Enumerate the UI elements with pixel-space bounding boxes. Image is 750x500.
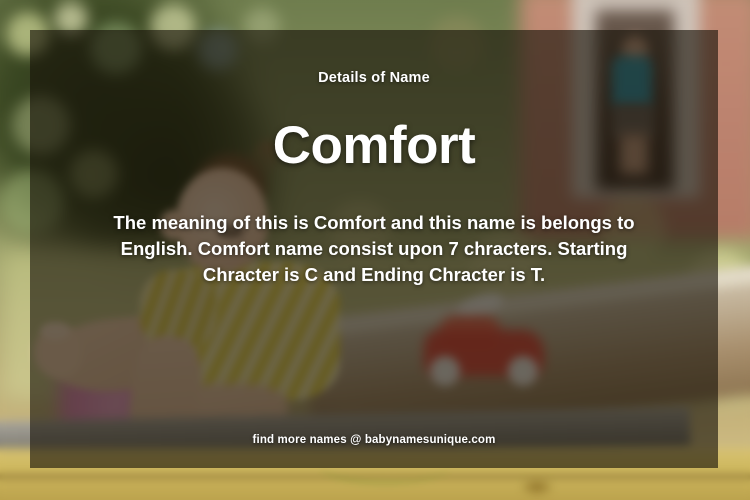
page-title: Comfort xyxy=(30,118,718,174)
background-wood-knot xyxy=(520,478,554,496)
card-kicker: Details of Name xyxy=(30,70,718,86)
card-content: Details of Name Comfort The meaning of t… xyxy=(30,30,718,468)
name-detail-card: Details of Name Comfort The meaning of t… xyxy=(0,0,750,500)
name-description: The meaning of this is Comfort and this … xyxy=(82,210,666,288)
footer-attribution: find more names @ babynamesunique.com xyxy=(30,434,718,446)
